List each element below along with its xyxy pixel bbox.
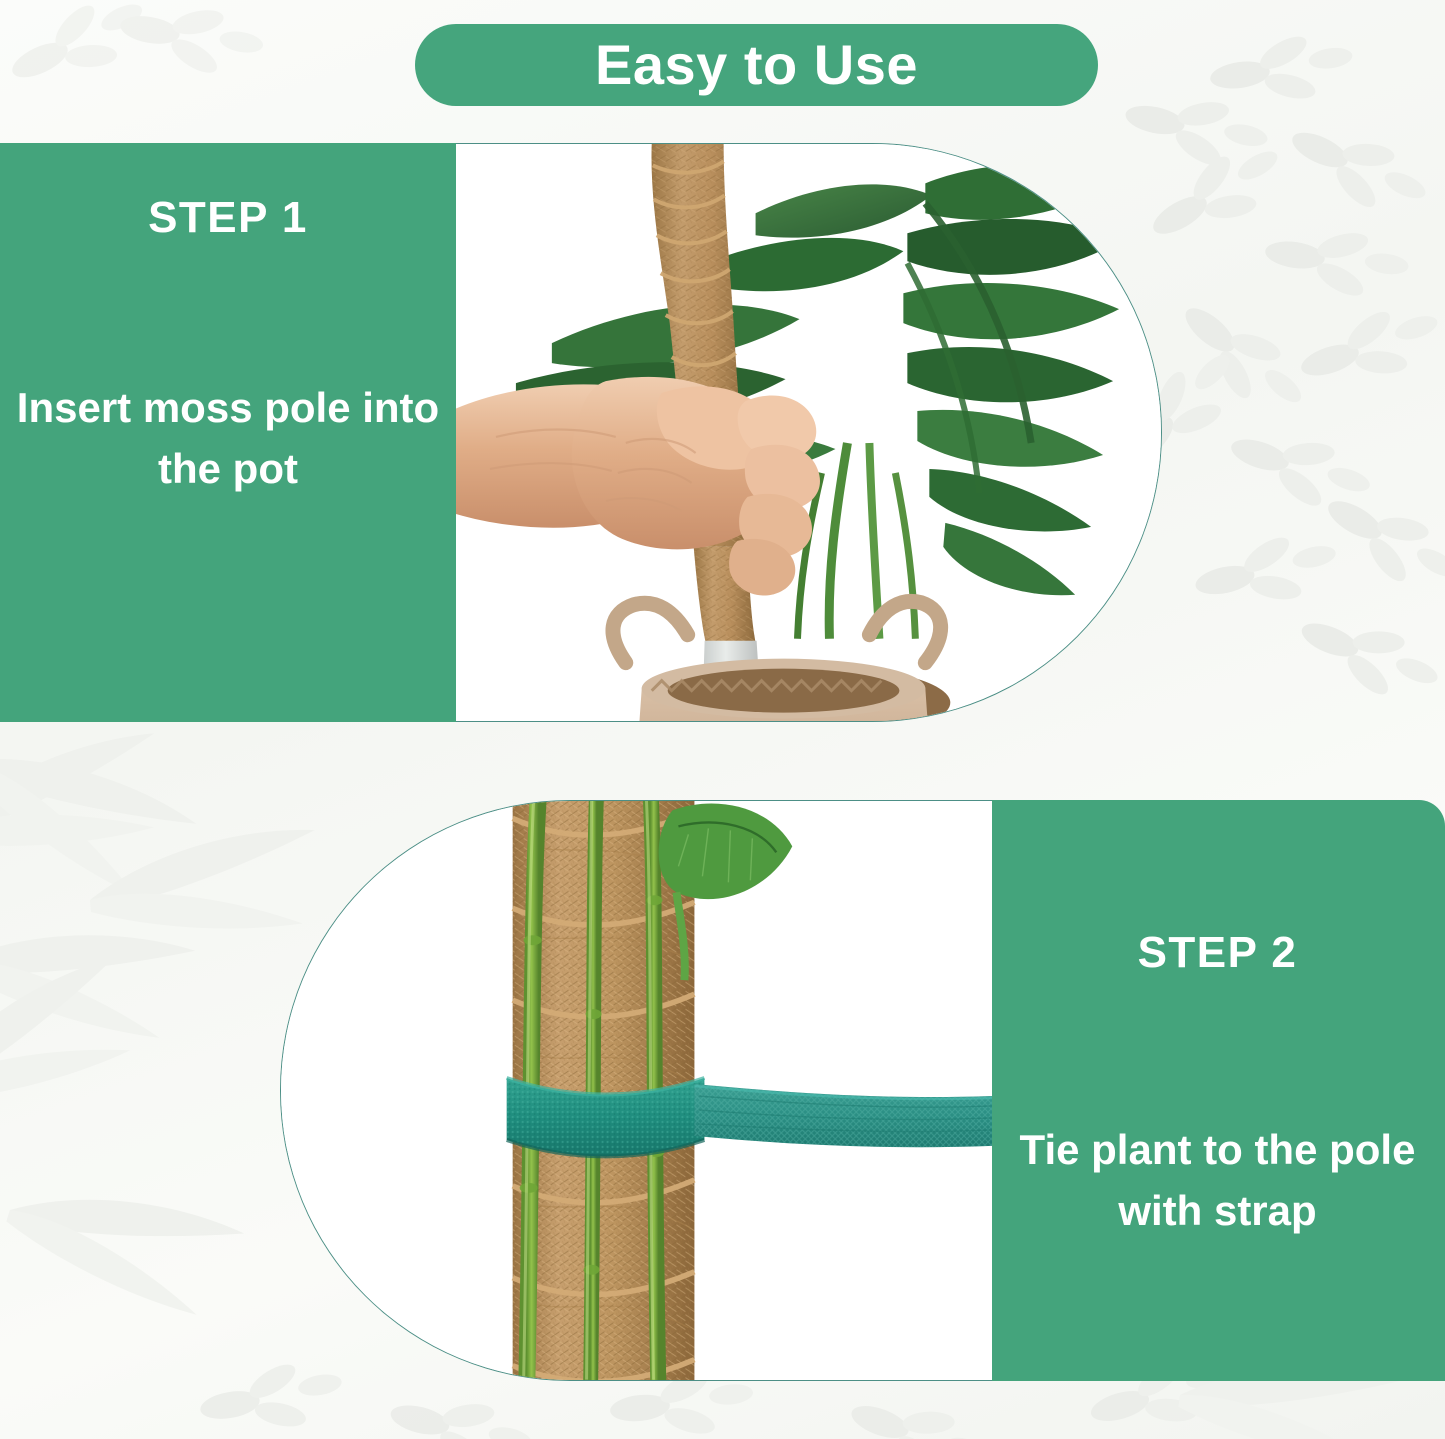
step-2-text-panel bbox=[990, 800, 1445, 1381]
step-1-illustration bbox=[456, 144, 1161, 721]
step-1-label: STEP 1 bbox=[0, 193, 456, 243]
step-1-description: Insert moss pole into the pot bbox=[8, 378, 448, 500]
infographic-page: Easy to Use STEP 1 Insert moss pole into… bbox=[0, 0, 1445, 1439]
step-1-photo bbox=[456, 143, 1162, 722]
step-2-section: STEP 2 Tie plant to the pole with strap bbox=[0, 800, 1445, 1381]
step-2-illustration bbox=[281, 801, 992, 1380]
step-1-section: STEP 1 Insert moss pole into the pot bbox=[0, 143, 1445, 722]
step-2-label: STEP 2 bbox=[990, 928, 1445, 978]
page-title: Easy to Use bbox=[595, 37, 918, 93]
step-2-description: Tie plant to the pole with strap bbox=[995, 1120, 1440, 1242]
page-title-pill: Easy to Use bbox=[415, 24, 1098, 106]
step-2-photo bbox=[280, 800, 992, 1381]
